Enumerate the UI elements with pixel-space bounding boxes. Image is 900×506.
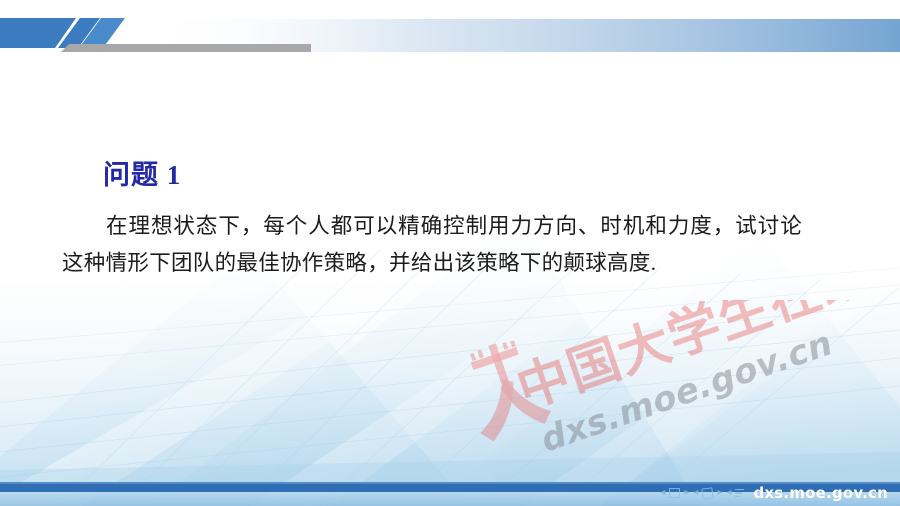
presentation-slide: 中国大学生在线 dxs.moe.gov.cn 问题 1 在理想状态下，每个人都可…: [0, 0, 900, 506]
next-arrow-icon[interactable]: ▸: [684, 488, 689, 498]
menu-lines-icon[interactable]: [735, 489, 744, 497]
next-arrow-icon[interactable]: ▸: [717, 488, 722, 498]
prev-arrow-icon[interactable]: ◂: [693, 488, 698, 498]
slide-box-icon[interactable]: [669, 488, 680, 498]
pen-shape-icon[interactable]: [702, 487, 714, 499]
page-title: 问题 1: [103, 153, 181, 192]
slideshow-nav-controls[interactable]: ◂ ▸ ◂ ▸ ◂ dxs.moe.gov.cn: [660, 482, 888, 504]
prev-arrow-icon[interactable]: ◂: [726, 488, 731, 498]
slide-content: 问题 1 在理想状态下，每个人都可以精确控制用力方向、时机和力度，试讨论这种情形…: [0, 0, 900, 506]
prev-arrow-icon[interactable]: ◂: [660, 488, 665, 498]
slide-body-text: 在理想状态下，每个人都可以精确控制用力方向、时机和力度，试讨论这种情形下团队的最…: [62, 208, 802, 282]
footer-url-label: dxs.moe.gov.cn: [753, 484, 888, 502]
